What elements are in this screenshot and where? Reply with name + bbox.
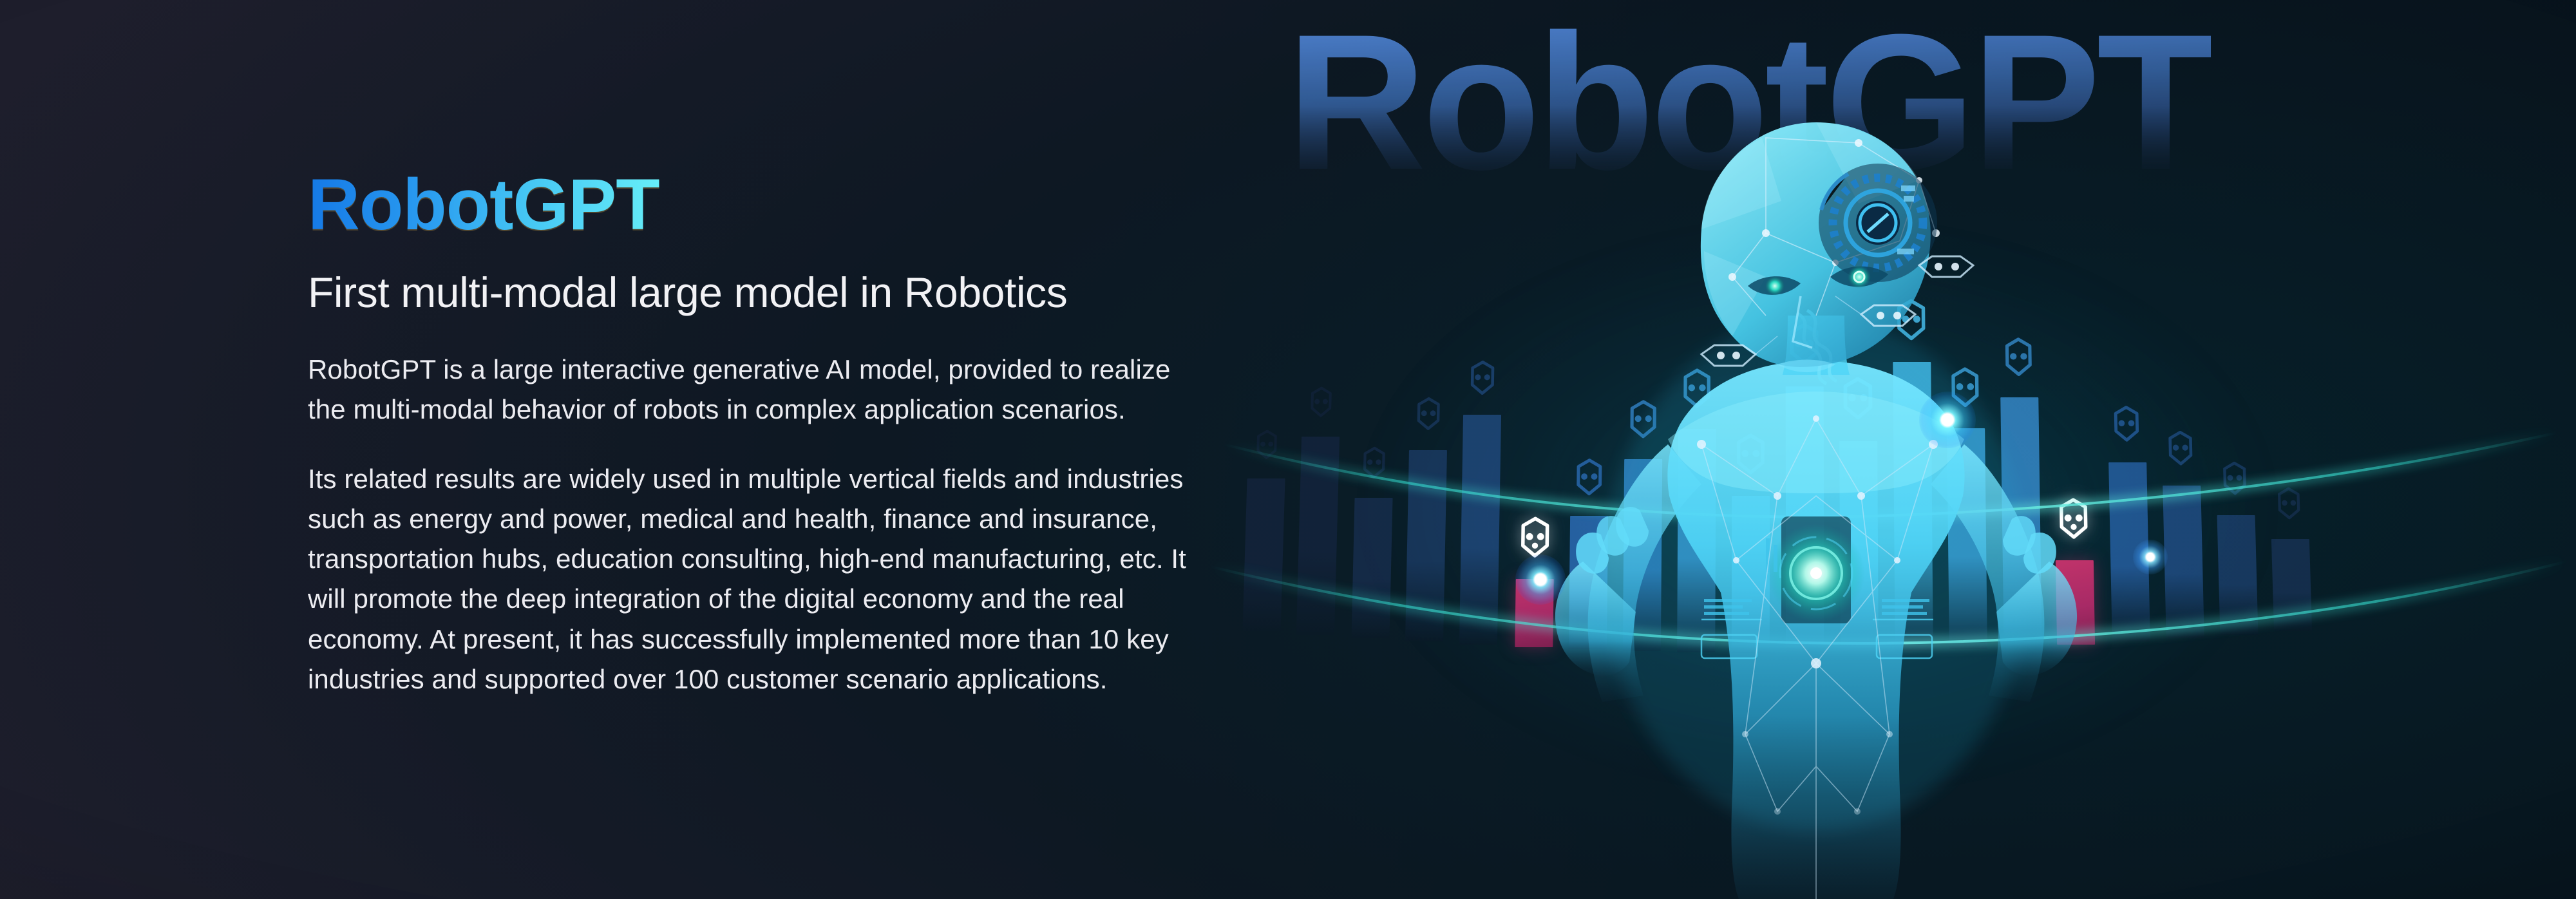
page-title: RobotGPT [308, 169, 659, 241]
page-subtitle: First multi-modal large model in Robotic… [308, 269, 1222, 316]
description-paragraph-2: Its related results are widely used in m… [308, 459, 1203, 699]
hero-text-column: RobotGPT First multi-modal large model i… [308, 169, 1222, 699]
robotgpt-hero-banner: RobotGPT [0, 0, 2576, 899]
description-paragraph-1: RobotGPT is a large interactive generati… [308, 350, 1203, 430]
